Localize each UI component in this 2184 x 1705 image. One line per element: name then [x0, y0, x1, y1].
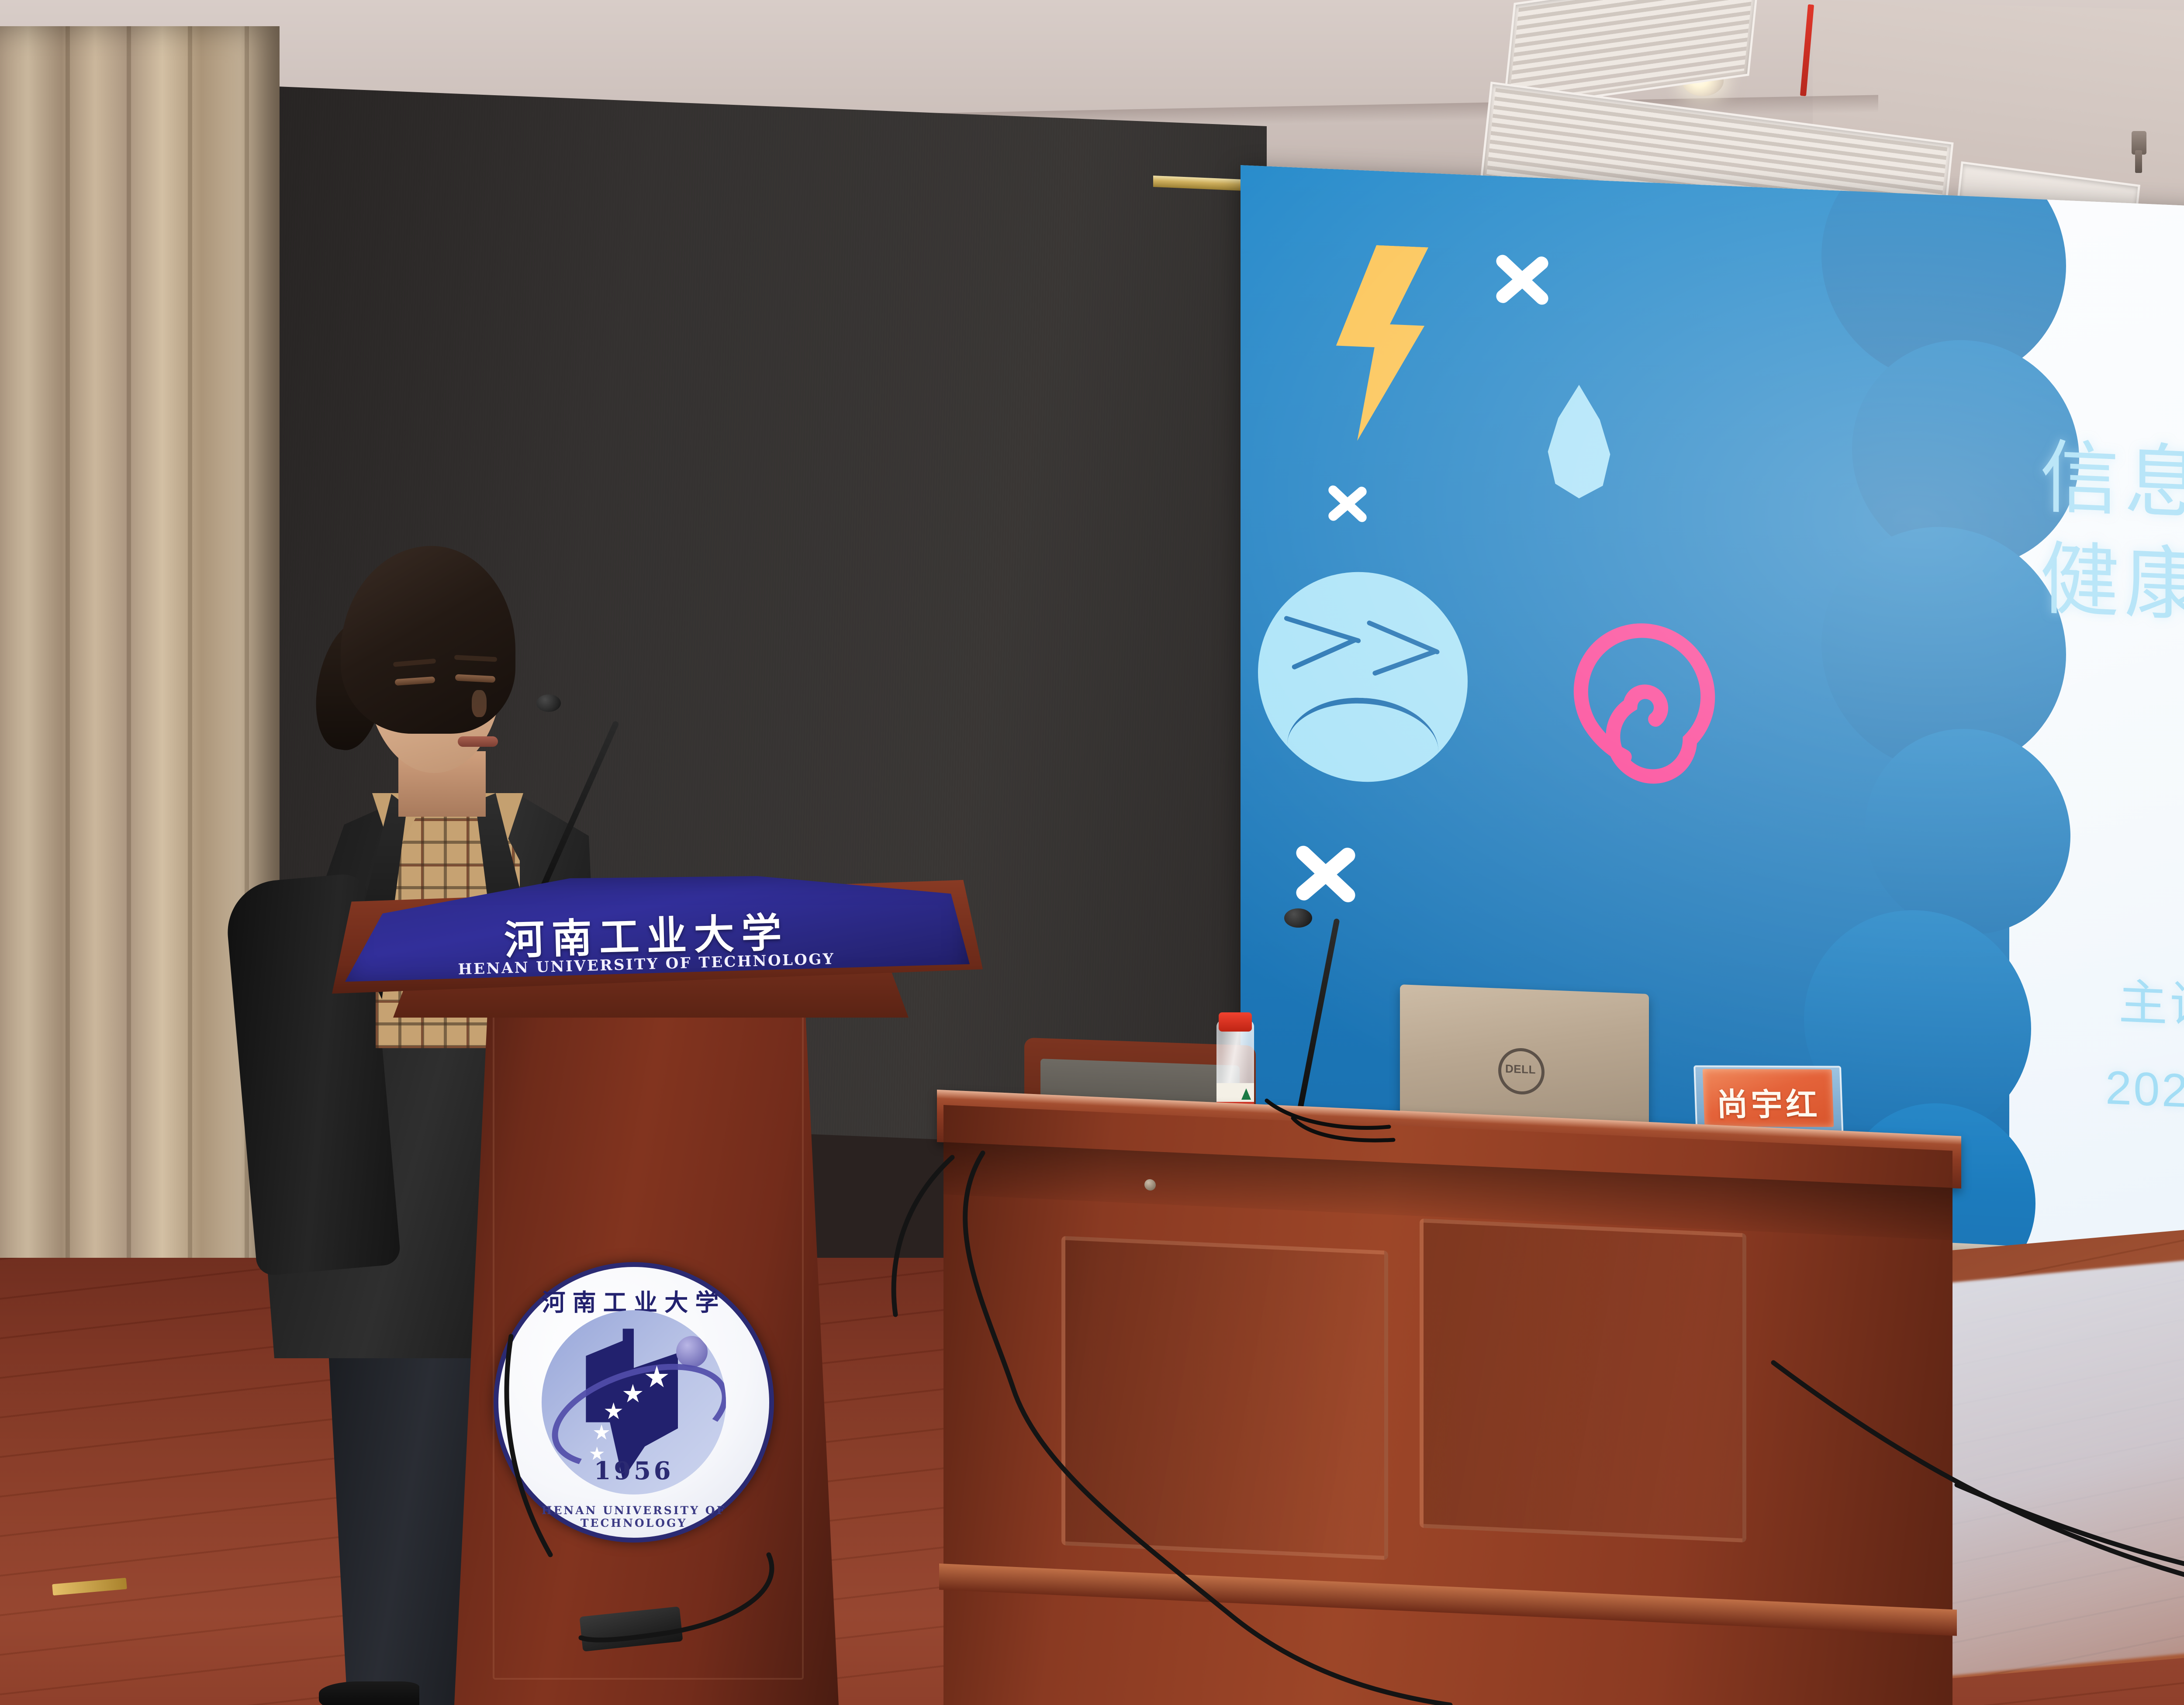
emblem-orb — [676, 1336, 708, 1367]
desk-lock-icon — [1144, 1179, 1156, 1191]
emblem-english-name: HENAN UNIVERSITY OF TECHNOLOGY — [498, 1504, 769, 1529]
x-mark-icon — [1324, 479, 1372, 529]
speaker-shoe — [319, 1681, 419, 1705]
name-plate-text: 尚宇红 — [1703, 1078, 1834, 1125]
speaker-hair — [341, 546, 515, 734]
name-plate: 尚宇红 — [1703, 1069, 1834, 1127]
water-bottle-cap — [1219, 1012, 1252, 1032]
speaker-nose — [472, 690, 487, 717]
x-mark-icon — [1489, 245, 1555, 314]
spiral-icon — [1542, 615, 1734, 815]
sprinkler-head-icon — [2132, 131, 2146, 155]
lecture-hall-photo: 信息学院大学生心理 健康教育专家讲座 主讲人：尚宇红 2023年10月27日 — [0, 0, 2184, 1705]
desk-panel-left — [1061, 1236, 1388, 1560]
speaker-mouth — [458, 736, 498, 747]
podium-microphone-head — [536, 694, 561, 712]
university-emblem: 河南工业大学 1956 HENAN UNIVERSITY OF TECHNOLO… — [494, 1262, 774, 1543]
emblem-founded-year: 1956 — [498, 1456, 769, 1485]
desk-microphone-head — [1284, 908, 1312, 928]
x-mark-icon — [1289, 835, 1363, 913]
desk-panel-right — [1420, 1218, 1746, 1543]
